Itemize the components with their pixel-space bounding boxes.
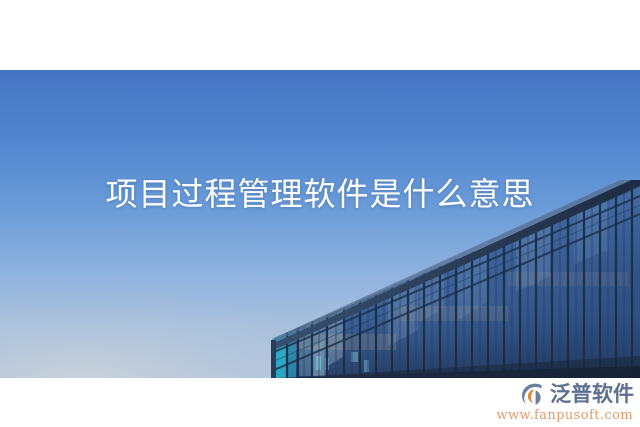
logo-url: www.fanpusoft.com <box>496 408 634 423</box>
top-white-band <box>0 0 640 70</box>
logo-wordmark: 泛普软件 <box>550 383 634 405</box>
brand-logo[interactable]: 泛普软件 www.fanpusoft.com <box>498 381 634 425</box>
fanpu-swoosh-icon <box>520 382 547 407</box>
logo-lockup: 泛普软件 <box>520 381 634 407</box>
hero-title: 项目过程管理软件是什么意思 <box>0 173 640 215</box>
page-root: 项目过程管理软件是什么意思 泛普软件 www.fanpusoft.com <box>0 0 640 427</box>
hero-banner: 项目过程管理软件是什么意思 <box>0 70 640 378</box>
